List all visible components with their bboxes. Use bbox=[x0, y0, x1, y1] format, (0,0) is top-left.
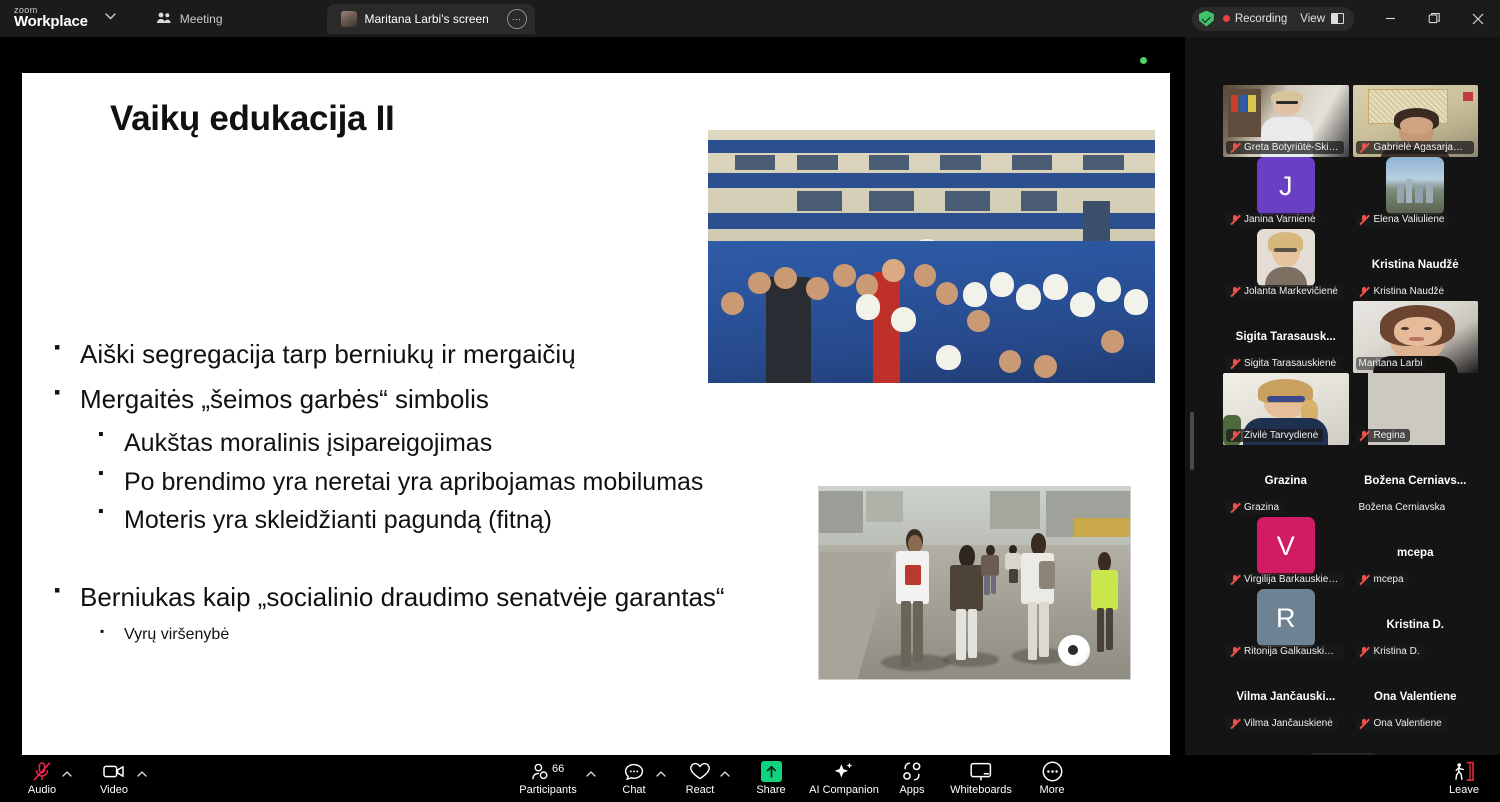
audio-button[interactable]: Audio bbox=[22, 755, 62, 802]
participant-tile[interactable]: Ona Valentiene Ona Valentiene bbox=[1353, 661, 1479, 733]
chat-label: Chat bbox=[622, 784, 645, 796]
participant-center-name: Kristina D. bbox=[1353, 619, 1479, 631]
participant-tile[interactable]: R Ritonija Galkauskienė bbox=[1223, 589, 1349, 661]
green-sharing-dot-icon bbox=[1140, 57, 1147, 64]
mic-muted-icon bbox=[1229, 358, 1240, 369]
participant-nameplate: Elena Valiuliene bbox=[1356, 213, 1450, 226]
avatar-initial: J bbox=[1279, 171, 1293, 202]
chat-bubble-icon bbox=[624, 762, 644, 782]
more-button[interactable]: More bbox=[1030, 755, 1074, 802]
tab-shared-screen-label: Maritana Larbi's screen bbox=[365, 12, 489, 26]
camera-icon bbox=[103, 762, 125, 782]
apps-icon bbox=[901, 762, 923, 782]
mic-muted-icon bbox=[1359, 142, 1370, 153]
mic-muted-icon bbox=[1229, 286, 1240, 297]
leave-button[interactable]: Leave bbox=[1440, 755, 1488, 802]
participant-row: R Ritonija Galkauskienė Kristina D. Kris… bbox=[1223, 589, 1478, 661]
participant-name: Regina bbox=[1374, 430, 1406, 441]
participant-name: Elena Valiuliene bbox=[1374, 214, 1445, 225]
participant-nameplate: mcepa bbox=[1356, 573, 1409, 586]
layout-view-icon bbox=[1331, 13, 1344, 24]
window-controls bbox=[1368, 0, 1500, 37]
participant-row: Sigita Tarasausk... Sigita Tarasauskienė bbox=[1223, 301, 1478, 373]
chat-button[interactable]: Chat bbox=[612, 755, 656, 802]
view-label: View bbox=[1300, 13, 1325, 25]
participant-nameplate: Jolanta Markevičienė bbox=[1226, 285, 1343, 298]
participant-name: Sigita Tarasauskienė bbox=[1244, 358, 1336, 369]
participant-center-name: mcepa bbox=[1353, 547, 1479, 559]
participant-name: Janina Varnienė bbox=[1244, 214, 1316, 225]
video-label: Video bbox=[100, 784, 128, 796]
react-button[interactable]: React bbox=[678, 755, 722, 802]
mic-muted-icon bbox=[1229, 718, 1240, 729]
participants-video-panel: Greta Botyriūtė-Skioti... Gabrielė Agasa… bbox=[1185, 37, 1500, 755]
participant-nameplate: Kristina Naudžė bbox=[1356, 285, 1450, 298]
slide-bullet-1: Aiški segregacija tarp berniukų ir merga… bbox=[54, 338, 854, 371]
participant-center-name: Sigita Tarasausk... bbox=[1223, 331, 1349, 343]
leave-door-icon bbox=[1452, 762, 1476, 782]
mic-muted-icon bbox=[1359, 286, 1370, 297]
more-ellipsis-icon[interactable]: ⋯ bbox=[507, 9, 527, 29]
sparkle-icon bbox=[832, 762, 856, 782]
participant-name: Ritonija Galkauskienė bbox=[1244, 646, 1339, 657]
participant-name: Gabrielė Agasarjanaitė bbox=[1374, 142, 1469, 153]
participant-tile[interactable]: Božena Černiavs... Božena Černiavska bbox=[1353, 445, 1479, 517]
participants-options-caret-icon[interactable] bbox=[584, 767, 598, 781]
children-street-football-photo bbox=[818, 486, 1131, 680]
avatar bbox=[1386, 157, 1444, 215]
title-bar: zoom Workplace Meeting bbox=[0, 0, 1500, 37]
participant-name: Vilma Jančauskienė bbox=[1244, 718, 1333, 729]
participant-center-name: Kristina Naudžė bbox=[1353, 259, 1479, 271]
avatar-initial: V bbox=[1277, 531, 1295, 562]
mic-muted-icon bbox=[1229, 142, 1240, 153]
slide-bullet-3: Aukštas moralinis įsipareigojimas bbox=[54, 427, 844, 460]
participant-name: Grazina bbox=[1244, 502, 1279, 513]
participant-row: V Virgilija Barkauskienė mcepa mcepa bbox=[1223, 517, 1478, 589]
mic-muted-icon bbox=[1359, 718, 1370, 729]
participants-label: Participants bbox=[519, 784, 576, 796]
logo-workplace-text: Workplace bbox=[14, 14, 88, 29]
mic-muted-icon bbox=[1359, 646, 1370, 657]
participant-center-name: Božena Černiavs... bbox=[1353, 475, 1479, 487]
slide-bullet-7: Vyrų viršenybė bbox=[54, 625, 844, 646]
avatar: J bbox=[1257, 157, 1315, 215]
shared-screen-area: Vaikų edukacija II bbox=[0, 37, 1185, 755]
avatar: V bbox=[1257, 517, 1315, 575]
meeting-controls-bar: Audio Video 66 bbox=[0, 755, 1500, 802]
chat-options-caret-icon[interactable] bbox=[654, 767, 668, 781]
slide-bullet-list: Aiški segregacija tarp berniukų ir merga… bbox=[54, 338, 844, 646]
participant-tile[interactable]: Elena Valiuliene bbox=[1353, 157, 1479, 229]
presentation-slide: Vaikų edukacija II bbox=[22, 73, 1170, 760]
tab-meeting-label: Meeting bbox=[180, 12, 223, 26]
panel-scrollbar[interactable] bbox=[1190, 412, 1194, 470]
participant-nameplate: Greta Botyriūtė-Skioti... bbox=[1226, 141, 1344, 154]
participant-row: Greta Botyriūtė-Skioti... Gabrielė Agasa… bbox=[1223, 85, 1478, 157]
participant-tile[interactable]: Gabrielė Agasarjanaitė bbox=[1353, 85, 1479, 157]
participant-center-name: Ona Valentiene bbox=[1353, 691, 1479, 703]
react-label: React bbox=[686, 784, 715, 796]
participants-button[interactable]: 66 Participants bbox=[512, 755, 584, 802]
tab-shared-screen[interactable]: Maritana Larbi's screen ⋯ bbox=[327, 4, 535, 34]
participant-row: Vilma Jančauski... Vilma Jančauskienė On… bbox=[1223, 661, 1478, 733]
share-label: Share bbox=[756, 784, 785, 796]
participant-name: Kristina Naudžė bbox=[1374, 286, 1445, 297]
security-shield-icon[interactable] bbox=[1199, 11, 1214, 27]
view-selector[interactable]: View bbox=[1300, 13, 1344, 25]
whiteboard-icon bbox=[970, 762, 992, 782]
audio-options-caret-icon[interactable] bbox=[60, 767, 74, 781]
recording-label: Recording bbox=[1235, 13, 1287, 25]
participant-nameplate: Božena Černiavska bbox=[1356, 501, 1451, 514]
avatar-initial: R bbox=[1276, 603, 1296, 634]
share-screen-button[interactable]: Share bbox=[748, 755, 794, 802]
participant-tile[interactable]: Sigita Tarasausk... Sigita Tarasauskienė bbox=[1223, 301, 1349, 373]
minimize-icon[interactable] bbox=[1368, 0, 1412, 37]
participant-nameplate: Ritonija Galkauskienė bbox=[1226, 645, 1344, 658]
participant-name: Greta Botyriūtė-Skioti... bbox=[1244, 142, 1339, 153]
slide-bullet-4: Po brendimo yra neretai yra apribojamas … bbox=[54, 466, 844, 499]
ai-companion-button[interactable]: AI Companion bbox=[800, 755, 888, 802]
whiteboards-label: Whiteboards bbox=[950, 784, 1012, 796]
participant-tile[interactable]: V Virgilija Barkauskienė bbox=[1223, 517, 1349, 589]
participant-tile[interactable]: J Janina Varnienė bbox=[1223, 157, 1349, 229]
participant-nameplate: Virgilija Barkauskienė bbox=[1226, 573, 1344, 586]
slide-title: Vaikų edukacija II bbox=[110, 99, 394, 139]
participant-tile[interactable]: Kristina D. Kristina D. bbox=[1353, 589, 1479, 661]
video-button[interactable]: Video bbox=[94, 755, 134, 802]
participant-nameplate: Ona Valentiene bbox=[1356, 717, 1447, 730]
mic-muted-icon bbox=[1359, 430, 1370, 441]
video-options-caret-icon[interactable] bbox=[135, 767, 149, 781]
audio-label: Audio bbox=[28, 784, 56, 796]
user-thumbnail-icon bbox=[341, 11, 357, 27]
participant-tile[interactable]: Greta Botyriūtė-Skioti... bbox=[1223, 85, 1349, 157]
participant-tile[interactable]: Vilma Jančauski... Vilma Jančauskienė bbox=[1223, 661, 1349, 733]
participant-nameplate: Živilė Tarvydienė bbox=[1226, 429, 1323, 442]
avatar: R bbox=[1257, 589, 1315, 647]
avatar bbox=[1257, 229, 1315, 287]
zoom-meeting-window: zoom Workplace Meeting bbox=[0, 0, 1500, 802]
close-icon[interactable] bbox=[1456, 0, 1500, 37]
leave-label: Leave bbox=[1449, 784, 1479, 796]
share-screen-icon bbox=[761, 762, 782, 782]
participant-name: Ona Valentiene bbox=[1374, 718, 1442, 729]
participant-tile[interactable]: Živilė Tarvydienė bbox=[1223, 373, 1349, 445]
participant-nameplate: Grazina bbox=[1226, 501, 1284, 514]
mic-muted-icon bbox=[1229, 214, 1240, 225]
microphone-muted-icon bbox=[32, 762, 52, 782]
participant-nameplate: Gabrielė Agasarjanaitė bbox=[1356, 141, 1474, 154]
participant-center-name: Vilma Jančauski... bbox=[1223, 691, 1349, 703]
more-label: More bbox=[1039, 784, 1064, 796]
mic-muted-icon bbox=[1229, 430, 1240, 441]
participant-name: Božena Černiavska bbox=[1359, 502, 1446, 513]
participant-tile[interactable]: Kristina Naudžė Kristina Naudžė bbox=[1353, 229, 1479, 301]
apps-button[interactable]: Apps bbox=[890, 755, 934, 802]
participant-name: Virgilija Barkauskienė bbox=[1244, 574, 1339, 585]
participant-tile[interactable]: Grazina Grazina bbox=[1223, 445, 1349, 517]
chevron-down-icon[interactable] bbox=[98, 4, 124, 30]
heart-icon bbox=[689, 762, 711, 782]
more-ellipsis-icon bbox=[1042, 762, 1063, 782]
participant-tile[interactable]: Jolanta Markevičienė bbox=[1223, 229, 1349, 301]
tab-meeting[interactable]: Meeting bbox=[142, 4, 237, 34]
participant-nameplate: Vilma Jančauskienė bbox=[1226, 717, 1338, 730]
participant-name: Živilė Tarvydienė bbox=[1244, 430, 1318, 441]
participant-name: Kristina D. bbox=[1374, 646, 1420, 657]
participant-name: mcepa bbox=[1374, 574, 1404, 585]
participant-row: Grazina Grazina Božena Černiavs... Božen… bbox=[1223, 445, 1478, 517]
meeting-status-pill: Recording View bbox=[1192, 7, 1354, 31]
zoom-workplace-logo: zoom Workplace bbox=[14, 6, 88, 32]
participant-tile-active-speaker[interactable]: Maritana Larbi bbox=[1353, 301, 1479, 373]
football-icon bbox=[1058, 635, 1089, 666]
slide-bullet-5: Moteris yra skleidžianti pagundą (fitną) bbox=[54, 504, 844, 537]
participants-grid: Greta Botyriūtė-Skioti... Gabrielė Agasa… bbox=[1223, 85, 1478, 733]
participant-name: Jolanta Markevičienė bbox=[1244, 286, 1338, 297]
slide-bullet-2: Mergaitės „šeimos garbės“ simbolis bbox=[54, 383, 854, 416]
mic-muted-icon bbox=[1229, 646, 1240, 657]
participant-row: Živilė Tarvydienė Regina bbox=[1223, 373, 1478, 445]
mic-muted-icon bbox=[1359, 214, 1370, 225]
participant-tile[interactable]: mcepa mcepa bbox=[1353, 517, 1479, 589]
mic-muted-icon bbox=[1229, 574, 1240, 585]
mic-muted-icon bbox=[1229, 502, 1240, 513]
react-options-caret-icon[interactable] bbox=[718, 767, 732, 781]
mic-muted-icon bbox=[1359, 574, 1370, 585]
participant-row: J Janina Varnienė bbox=[1223, 157, 1478, 229]
participant-nameplate: Janina Varnienė bbox=[1226, 213, 1321, 226]
participant-nameplate: Regina bbox=[1356, 429, 1411, 442]
recording-dot-icon bbox=[1223, 15, 1230, 22]
svg-text:66: 66 bbox=[552, 763, 564, 775]
participant-name: Maritana Larbi bbox=[1359, 358, 1423, 369]
ai-companion-label: AI Companion bbox=[809, 784, 879, 796]
recording-status[interactable]: Recording bbox=[1223, 13, 1287, 25]
slide-bullet-6: Berniukas kaip „socialinio draudimo sena… bbox=[54, 581, 854, 614]
participant-tile[interactable]: Regina bbox=[1353, 373, 1479, 445]
participant-row: Jolanta Markevičienė Kristina Naudžė Kri… bbox=[1223, 229, 1478, 301]
participant-center-name: Grazina bbox=[1223, 475, 1349, 487]
whiteboards-button[interactable]: Whiteboards bbox=[940, 755, 1022, 802]
participant-nameplate: Kristina D. bbox=[1356, 645, 1425, 658]
maximize-icon[interactable] bbox=[1412, 0, 1456, 37]
title-bar-left: zoom Workplace Meeting bbox=[0, 0, 535, 37]
participants-icon: 66 bbox=[530, 762, 566, 782]
apps-label: Apps bbox=[899, 784, 924, 796]
participant-nameplate: Maritana Larbi bbox=[1356, 357, 1428, 370]
title-bar-right: Recording View bbox=[1192, 0, 1500, 37]
people-icon bbox=[156, 11, 172, 27]
participant-nameplate: Sigita Tarasauskienė bbox=[1226, 357, 1341, 370]
